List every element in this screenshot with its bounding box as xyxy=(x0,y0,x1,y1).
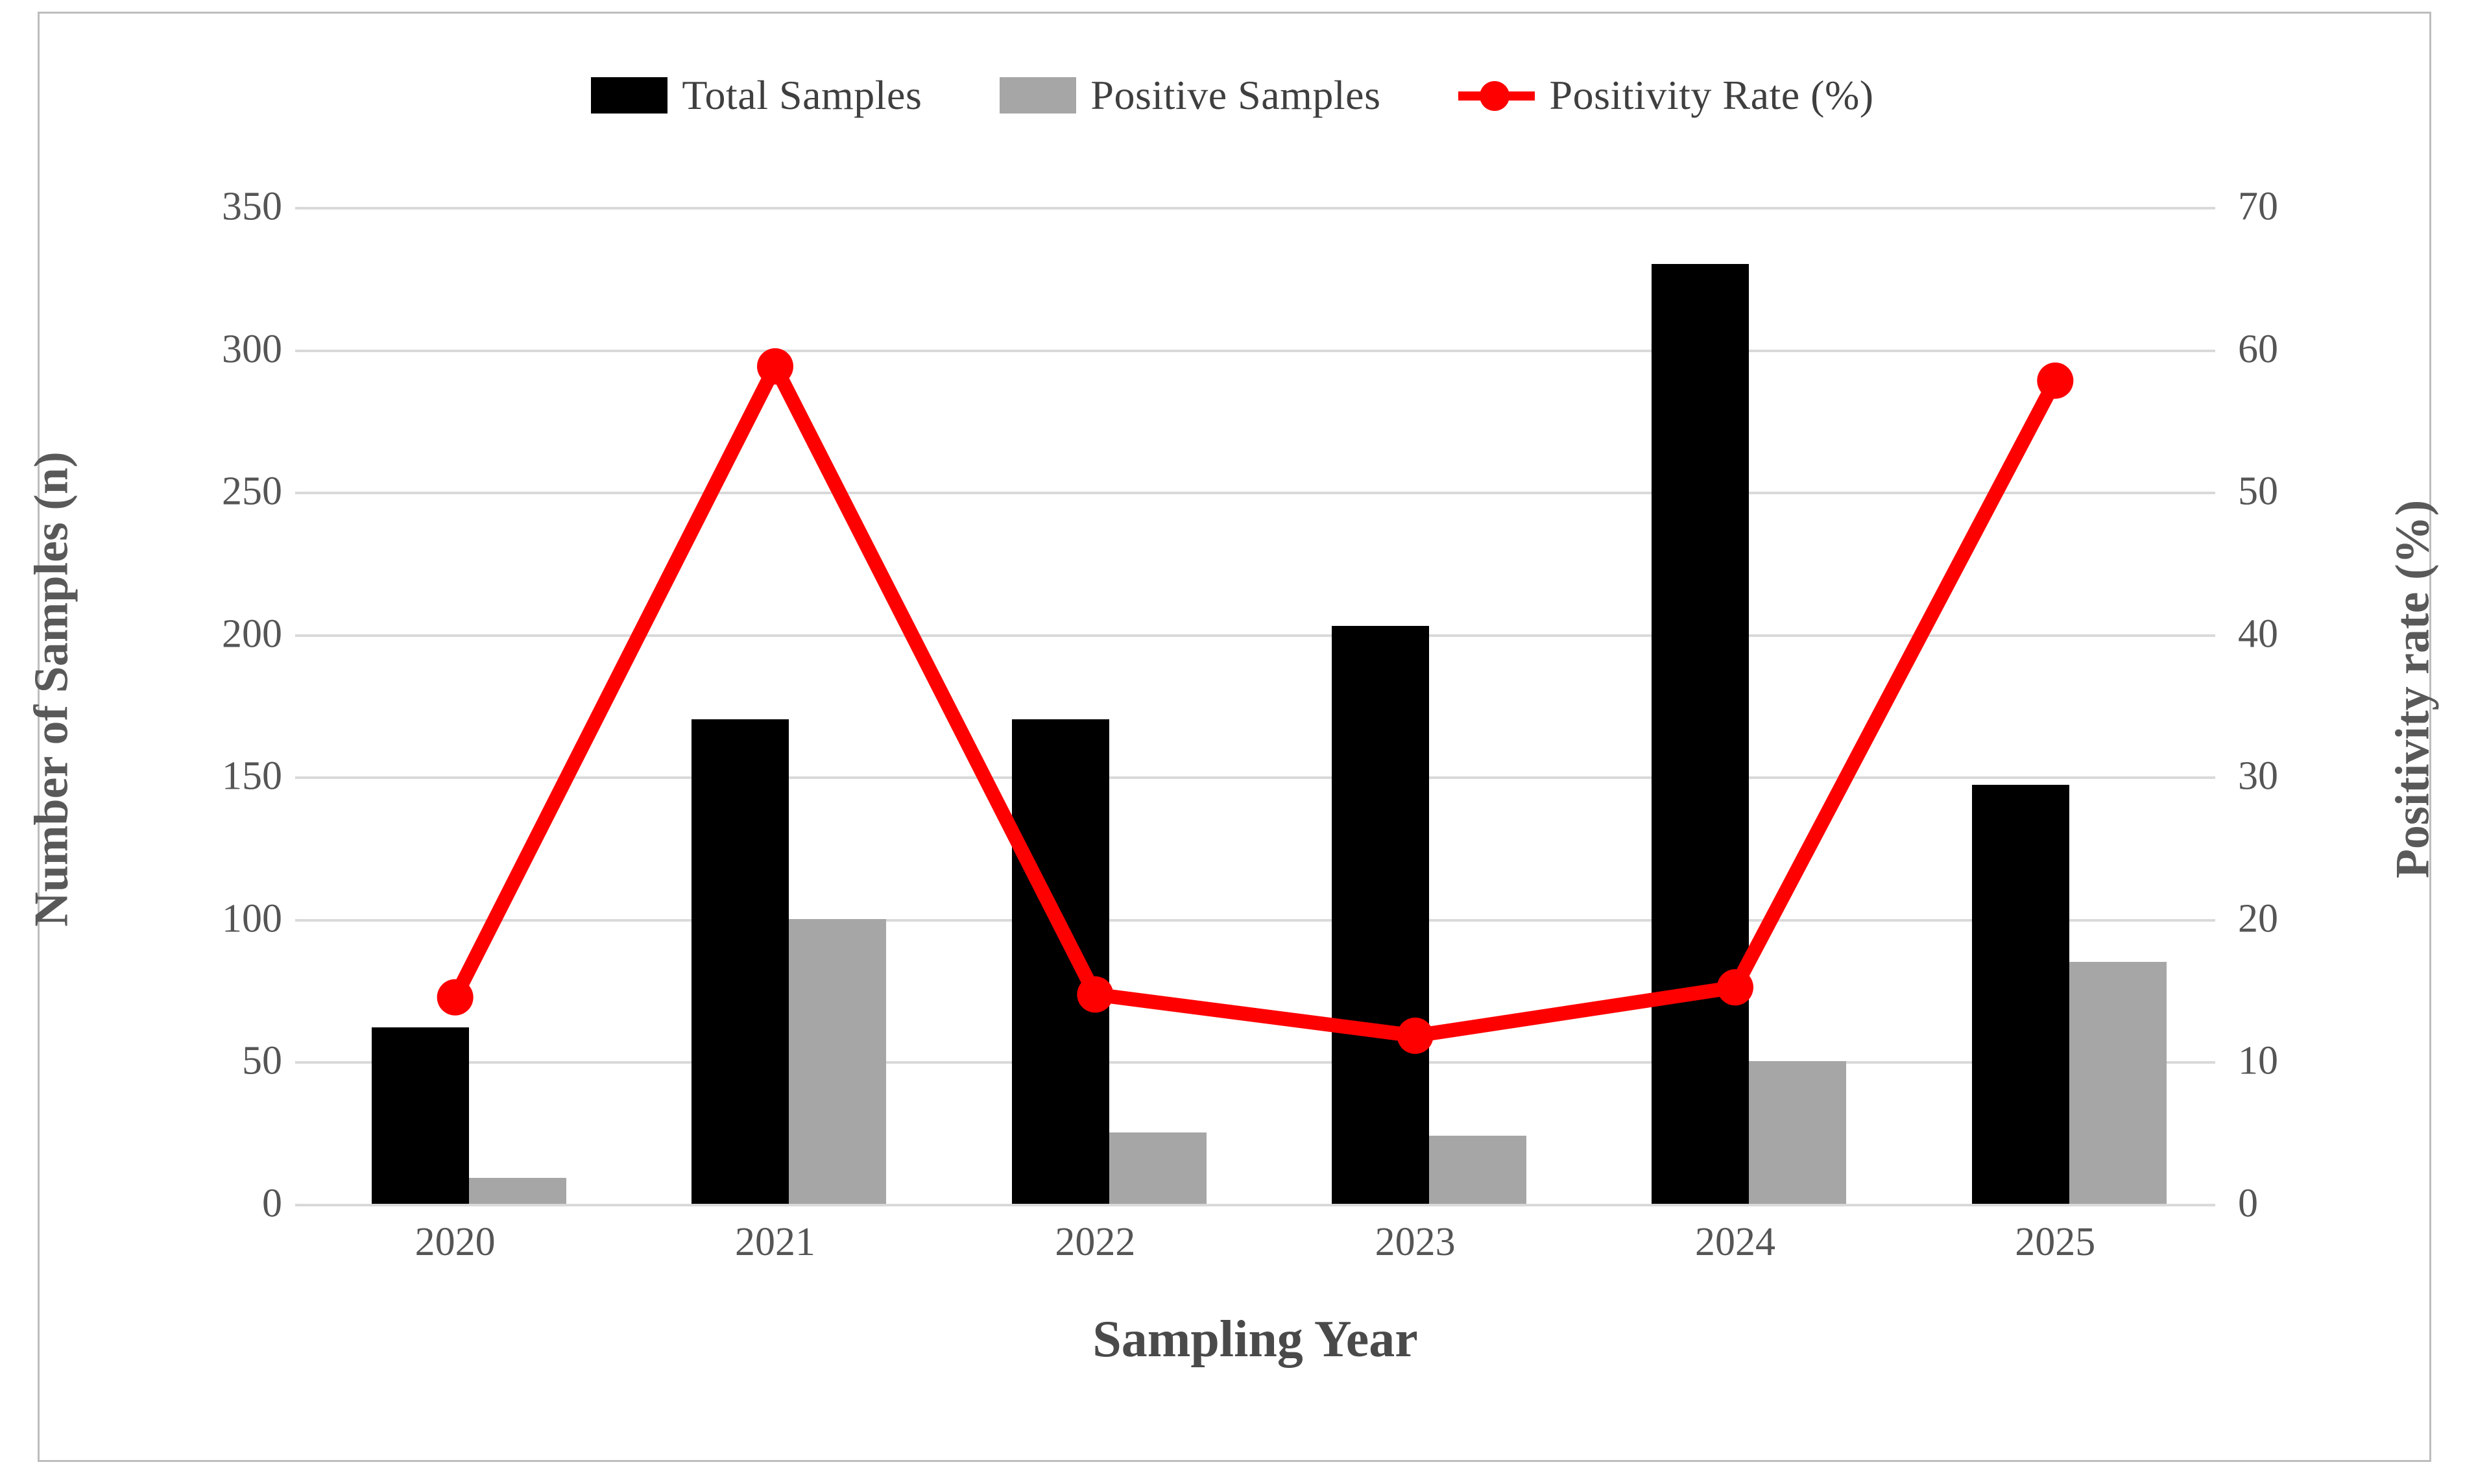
y-axis-left-title: Number of Samples (n) xyxy=(25,300,80,1079)
bar-total-samples xyxy=(1652,264,1749,1204)
y-axis-left-ticks: 050100150200250300350 xyxy=(159,207,289,1204)
x-axis-tick-label: 2021 xyxy=(615,1219,935,1291)
x-axis-title: Sampling Year xyxy=(295,1310,2215,1369)
bar-group xyxy=(935,207,1255,1204)
y-axis-left-tick-label: 100 xyxy=(222,896,282,942)
y-axis-left-tick-label: 50 xyxy=(242,1038,282,1084)
y-axis-right-ticks: 010203040506070 xyxy=(2231,207,2361,1204)
bar-positive-samples xyxy=(1429,1136,1526,1204)
gridline xyxy=(295,1204,2215,1206)
x-axis-tick-label: 2023 xyxy=(1255,1219,1575,1291)
bars-layer xyxy=(295,207,2215,1204)
x-axis-tick-label: 2020 xyxy=(295,1219,615,1291)
bar-group xyxy=(1895,207,2215,1204)
x-axis-ticks: 202020212022202320242025 xyxy=(295,1219,2215,1291)
bar-total-samples xyxy=(1332,626,1429,1204)
x-axis-tick-label: 2024 xyxy=(1575,1219,1895,1291)
bar-total-samples xyxy=(691,719,789,1204)
y-axis-right-tick-label: 20 xyxy=(2238,896,2278,942)
bar-positive-samples xyxy=(1749,1061,1846,1204)
y-axis-left-tick-label: 350 xyxy=(222,184,282,230)
x-axis-tick-label: 2022 xyxy=(935,1219,1255,1291)
bar-positive-samples xyxy=(789,919,886,1204)
y-axis-right-tick-label: 70 xyxy=(2238,184,2278,230)
y-axis-right-title: Positivity rate (%) xyxy=(2386,300,2441,1079)
x-axis-tick-label: 2025 xyxy=(1895,1219,2215,1291)
y-axis-left-tick-label: 300 xyxy=(222,326,282,372)
bar-positive-samples xyxy=(469,1178,566,1204)
y-axis-right-tick-label: 30 xyxy=(2238,754,2278,800)
y-axis-right-tick-label: 40 xyxy=(2238,611,2278,657)
y-axis-right-tick-label: 50 xyxy=(2238,469,2278,515)
bar-group xyxy=(295,207,615,1204)
bar-positive-samples xyxy=(1109,1132,1207,1204)
y-axis-left-tick-label: 150 xyxy=(222,754,282,800)
bar-group xyxy=(1575,207,1895,1204)
y-axis-right-tick-label: 10 xyxy=(2238,1038,2278,1084)
bar-positive-samples xyxy=(2069,962,2167,1204)
y-axis-right-tick-label: 0 xyxy=(2238,1181,2258,1227)
bar-total-samples xyxy=(1972,785,2069,1204)
y-axis-right-tick-label: 60 xyxy=(2238,326,2278,372)
y-axis-left-tick-label: 200 xyxy=(222,611,282,657)
y-axis-left-tick-label: 0 xyxy=(262,1181,282,1227)
bar-group xyxy=(1255,207,1575,1204)
chart-figure: Total Samples Positive Samples Positivit… xyxy=(0,0,2465,1484)
bar-total-samples xyxy=(1012,719,1109,1204)
y-axis-left-tick-label: 250 xyxy=(222,469,282,515)
plot-wrapper: 050100150200250300350 010203040506070 20… xyxy=(0,0,2465,1484)
bar-group xyxy=(615,207,935,1204)
bar-total-samples xyxy=(372,1027,469,1204)
